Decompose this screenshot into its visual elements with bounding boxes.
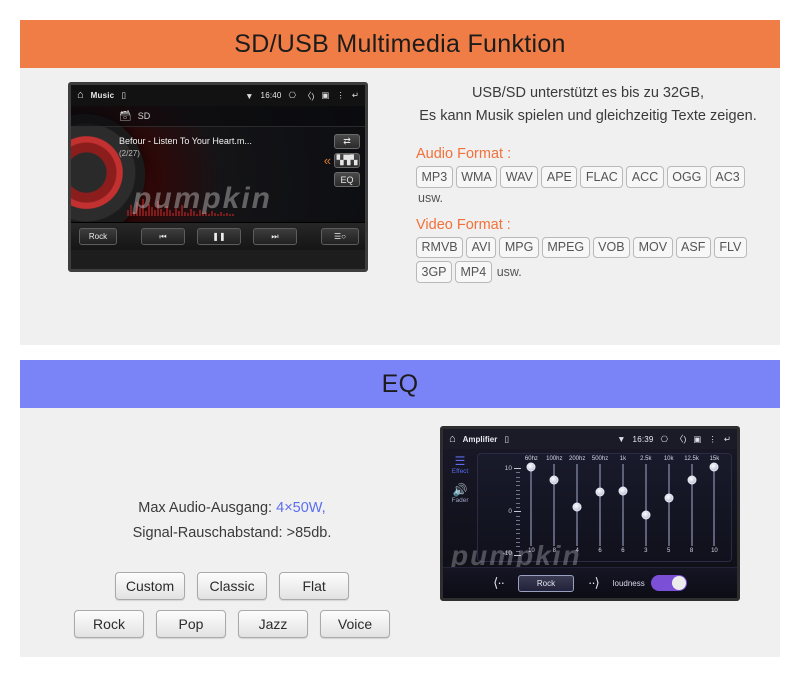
amp-band-track[interactable] [553, 464, 555, 546]
amp-band-knob[interactable] [550, 476, 559, 485]
display-icon[interactable]: ▣ [321, 90, 329, 101]
eq-preset-voice[interactable]: Voice [320, 610, 390, 638]
sd-storage-icon: 🗃 [119, 111, 132, 122]
sd-usb-lead-line1: USB/SD unterstützt es bis zu 32GB, [472, 85, 704, 101]
player-side-buttons: ⇄ ▚▜▚ EQ [334, 134, 360, 187]
amp-band-track[interactable] [645, 464, 647, 546]
amp-band-value: 10 [711, 548, 718, 554]
amp-band-knob[interactable] [687, 476, 696, 485]
player-transport-bar: Rock ⏮ ❚❚ ⏭ ☰○ [71, 222, 365, 250]
video-format-label: Video Format : [416, 217, 766, 233]
eq-preset-custom[interactable]: Custom [115, 572, 185, 600]
amp-preset-button[interactable]: Rock [518, 575, 574, 592]
eq-spec-text: Max Audio-Ausgang: 4×50W, Signal-Rauscha… [24, 496, 440, 546]
video-format-chip-list: RMVB AVI MPG MPEG VOB MOV ASF FLV 3GP MP… [410, 237, 766, 283]
amp-band-frequency: 15k [710, 456, 720, 462]
sd-card-icon: ⎔ [289, 90, 296, 101]
previous-track-icon[interactable]: ⏮ [141, 228, 185, 245]
format-chip: FLAC [580, 166, 623, 188]
eq-spec-line2: Signal-Rauschabstand: >85db. [24, 521, 440, 546]
audio-format-chip-list: MP3 WMA WAV APE FLAC ACC OGG AC3 usw. [410, 166, 766, 205]
amp-band-track[interactable] [599, 464, 601, 546]
sd-usb-lead-line2: Es kann Musik spielen und gleichzeitig T… [410, 105, 766, 128]
music-player-device: ⌂ Music ▯ ▼ 16:40 ⎔ 〈) ▣ ⋮ ↵ [68, 82, 368, 272]
section-eq-body: Max Audio-Ausgang: 4×50W, Signal-Rauscha… [20, 408, 780, 638]
sidebar-item-fader[interactable]: 🔊 Fader [452, 484, 469, 504]
amp-band-track[interactable] [576, 464, 578, 546]
amp-band-knob[interactable] [664, 494, 673, 503]
amp-band-track[interactable] [713, 464, 715, 546]
amp-app-title: Amplifier [463, 435, 498, 444]
amp-band-frequency: 10k [664, 456, 674, 462]
amp-band-knob[interactable] [527, 463, 536, 472]
player-source-row[interactable]: 🗃 SD [71, 106, 365, 127]
player-preset-button[interactable]: Rock [79, 228, 117, 245]
format-chip: MP4 [455, 261, 492, 283]
section-sd-usb-title: SD/USB Multimedia Funktion [234, 30, 566, 59]
amp-bottom-bar: ⟨·· Rock ··⟩ loudness [443, 567, 737, 598]
format-chip: AVI [466, 237, 496, 259]
format-chip: WAV [500, 166, 538, 188]
amp-band-value: 4 [576, 548, 579, 554]
eq-spec-line1: Max Audio-Ausgang: 4×50W, [24, 496, 440, 521]
section-sd-usb-body: ⌂ Music ▯ ▼ 16:40 ⎔ 〈) ▣ ⋮ ↵ [20, 68, 780, 283]
amp-band-value: 10 [528, 548, 535, 554]
amp-main-area: ☰ Effect 🔊 Fader 10 [443, 449, 737, 567]
loudness-label: loudness [613, 579, 645, 588]
format-chip: MP3 [416, 166, 453, 188]
amp-band-track[interactable] [691, 464, 693, 546]
chevron-right-icon[interactable]: ··⟩ [588, 575, 599, 591]
format-chip: VOB [593, 237, 630, 259]
format-chip: OGG [667, 166, 707, 188]
eq-preset-classic[interactable]: Classic [197, 572, 267, 600]
format-chip: 3GP [416, 261, 452, 283]
amp-band-frequency: 200hz [569, 456, 585, 462]
sd-usb-lead-text: USB/SD unterstützt es bis zu 32GB, Es ka… [410, 82, 766, 128]
player-screen: 🗃 SD Befour - Listen To Your Heart.m... … [71, 106, 365, 250]
amp-equalizer-panel: 10 0 -10 [477, 453, 732, 562]
amp-band-knob[interactable] [618, 487, 627, 496]
format-chip: WMA [456, 166, 498, 188]
screenshot-icon[interactable]: ▯ [504, 434, 509, 445]
amplifier-device: ⌂ Amplifier ▯ ▼ 16:39 ⎔ 〈) ▣ ⋮ ↵ [440, 426, 740, 601]
amp-band-frequency: 2.5k [640, 456, 651, 462]
home-icon[interactable]: ⌂ [77, 90, 84, 101]
amp-band-slider[interactable]: 15k 10 [704, 456, 724, 561]
amp-band-slider[interactable]: 12.5k 8 [682, 456, 702, 561]
amp-band-knob[interactable] [641, 510, 650, 519]
format-chip: AC3 [710, 166, 745, 188]
amplifier-screenshot-wrap: ⌂ Amplifier ▯ ▼ 16:39 ⎔ 〈) ▣ ⋮ ↵ [440, 426, 780, 638]
overflow-menu-icon[interactable]: ⋮ [336, 90, 345, 101]
amp-band-slider[interactable]: 2.5k 3 [636, 456, 656, 561]
amp-band-slider[interactable]: 100hz 8 [544, 456, 564, 561]
amp-band-value: 8 [553, 548, 556, 554]
amp-band-value: 3 [644, 548, 647, 554]
wifi-icon: ▼ [617, 434, 625, 444]
amp-band-knob[interactable] [710, 463, 719, 472]
back-icon[interactable]: ↵ [724, 434, 731, 445]
player-waveform [127, 194, 327, 216]
player-track-index: (2/27) [119, 149, 323, 158]
amp-band-value: 8 [690, 548, 693, 554]
audio-format-suffix: usw. [416, 191, 443, 205]
amp-scale-mid: 0 [508, 508, 512, 515]
pause-icon[interactable]: ❚❚ [197, 228, 241, 245]
amp-band-value: 5 [667, 548, 670, 554]
format-chip: ACC [626, 166, 663, 188]
amp-band-slider[interactable]: 10k 5 [659, 456, 679, 561]
format-chip: MPG [499, 237, 538, 259]
amp-band-slider[interactable]: 60hz 10 [521, 456, 541, 561]
chevron-left-icon[interactable]: ⟨·· [493, 575, 504, 591]
amp-band-frequency: 500hz [592, 456, 608, 462]
sidebar-item-effect-label: Effect [452, 468, 469, 475]
section-eq-title: EQ [382, 370, 419, 399]
eq-button[interactable]: EQ [334, 172, 360, 187]
eq-preset-pop[interactable]: Pop [156, 610, 226, 638]
amp-band-value: 6 [621, 548, 624, 554]
amp-scale-ticks [515, 468, 520, 556]
section-sd-usb-header: SD/USB Multimedia Funktion [20, 20, 780, 68]
amp-band-frequency: 100hz [546, 456, 562, 462]
section-eq: EQ Max Audio-Ausgang: 4×50W, Signal-Raus… [20, 360, 780, 657]
player-source-label: SD [138, 111, 151, 121]
playlist-icon[interactable]: ☰○ [321, 228, 359, 245]
amp-band-frequency: 12.5k [684, 456, 699, 462]
amp-scale-min: -10 [503, 550, 512, 557]
wifi-icon: ▼ [245, 91, 253, 101]
eq-preset-row-2: Rock Pop Jazz Voice [74, 610, 390, 638]
back-icon[interactable]: ↵ [352, 90, 359, 101]
overflow-menu-icon[interactable]: ⋮ [708, 434, 717, 445]
amp-band-frequency: 1k [620, 456, 626, 462]
eq-spec-line1-value: 4×50W, [276, 500, 326, 516]
sliders-icon: ☰ [455, 455, 466, 467]
amp-clock: 16:39 [633, 435, 654, 444]
sidebar-item-fader-label: Fader [452, 497, 469, 504]
amp-band-knob[interactable] [596, 487, 605, 496]
player-clock: 16:40 [261, 91, 282, 100]
amp-band-knob[interactable] [573, 502, 582, 511]
format-chip: ASF [676, 237, 711, 259]
eq-preset-row-1: Custom Classic Flat [115, 572, 349, 600]
amp-band-track[interactable] [668, 464, 670, 546]
format-chip: APE [541, 166, 577, 188]
music-player-screenshot-wrap: ⌂ Music ▯ ▼ 16:40 ⎔ 〈) ▣ ⋮ ↵ [20, 82, 410, 283]
equalizer-icon[interactable]: ▚▜▚ [334, 153, 360, 168]
eq-preset-flat[interactable]: Flat [279, 572, 349, 600]
amp-band-value: 6 [598, 548, 601, 554]
player-app-title: Music [91, 91, 115, 100]
page-root: SD/USB Multimedia Funktion ⌂ Music ▯ ▼ 1… [0, 0, 800, 677]
format-chip: MOV [633, 237, 672, 259]
amp-band-track[interactable] [622, 464, 624, 546]
eq-preset-jazz[interactable]: Jazz [238, 610, 308, 638]
display-icon[interactable]: ▣ [693, 434, 701, 445]
sd-usb-text-column: USB/SD unterstützt es bis zu 32GB, Es ka… [410, 82, 780, 283]
amp-band-slider[interactable]: 500hz 6 [590, 456, 610, 561]
format-chip: MPEG [542, 237, 590, 259]
amp-scale-numbers: 10 0 -10 [496, 468, 512, 556]
sidebar-item-effect[interactable]: ☰ Effect [452, 455, 469, 475]
volume-icon[interactable]: 〈) [303, 90, 314, 102]
format-chip: FLV [714, 237, 747, 259]
volume-icon[interactable]: 〈) [675, 433, 686, 445]
next-track-icon[interactable]: ⏭ [253, 228, 297, 245]
amp-status-bar: ⌂ Amplifier ▯ ▼ 16:39 ⎔ 〈) ▣ ⋮ ↵ [443, 429, 737, 449]
section-sd-usb: SD/USB Multimedia Funktion ⌂ Music ▯ ▼ 1… [20, 20, 780, 345]
amp-band-frequency: 60hz [525, 456, 538, 462]
loudness-control[interactable]: loudness [613, 575, 687, 591]
video-format-suffix: usw. [495, 265, 522, 279]
format-chip: RMVB [416, 237, 463, 259]
amp-band-slider[interactable]: 200hz 4 [567, 456, 587, 561]
player-track-info: Befour - Listen To Your Heart.m... (2/27… [71, 127, 365, 158]
amp-band-sliders: 60hz 10 100hz 8 200hz [520, 454, 731, 561]
amp-band-slider[interactable]: 1k 6 [613, 456, 633, 561]
eq-text-column: Max Audio-Ausgang: 4×50W, Signal-Rauscha… [20, 426, 440, 638]
shuffle-icon[interactable]: ⇄ [334, 134, 360, 149]
section-eq-header: EQ [20, 360, 780, 408]
screenshot-icon[interactable]: ▯ [121, 90, 126, 101]
audio-format-label: Audio Format : [416, 146, 766, 162]
eq-spec-line1-label: Max Audio-Ausgang: [138, 500, 276, 516]
amp-band-track[interactable] [530, 464, 532, 546]
home-icon[interactable]: ⌂ [449, 433, 456, 445]
eq-preset-rock[interactable]: Rock [74, 610, 144, 638]
player-track-title: Befour - Listen To Your Heart.m... [119, 136, 323, 146]
double-chevron-left-icon[interactable]: « [324, 153, 331, 168]
sd-card-icon: ⎔ [661, 434, 668, 445]
loudness-toggle-knob [672, 576, 686, 590]
eq-preset-buttons: Custom Classic Flat Rock Pop Jazz Voice [24, 572, 440, 638]
speaker-icon: 🔊 [453, 484, 468, 496]
amp-scale: 10 0 -10 [478, 454, 520, 561]
loudness-toggle[interactable] [651, 575, 687, 591]
amp-scale-max: 10 [505, 465, 512, 472]
player-status-bar: ⌂ Music ▯ ▼ 16:40 ⎔ 〈) ▣ ⋮ ↵ [71, 85, 365, 106]
amp-sidebar: ☰ Effect 🔊 Fader [443, 449, 477, 567]
